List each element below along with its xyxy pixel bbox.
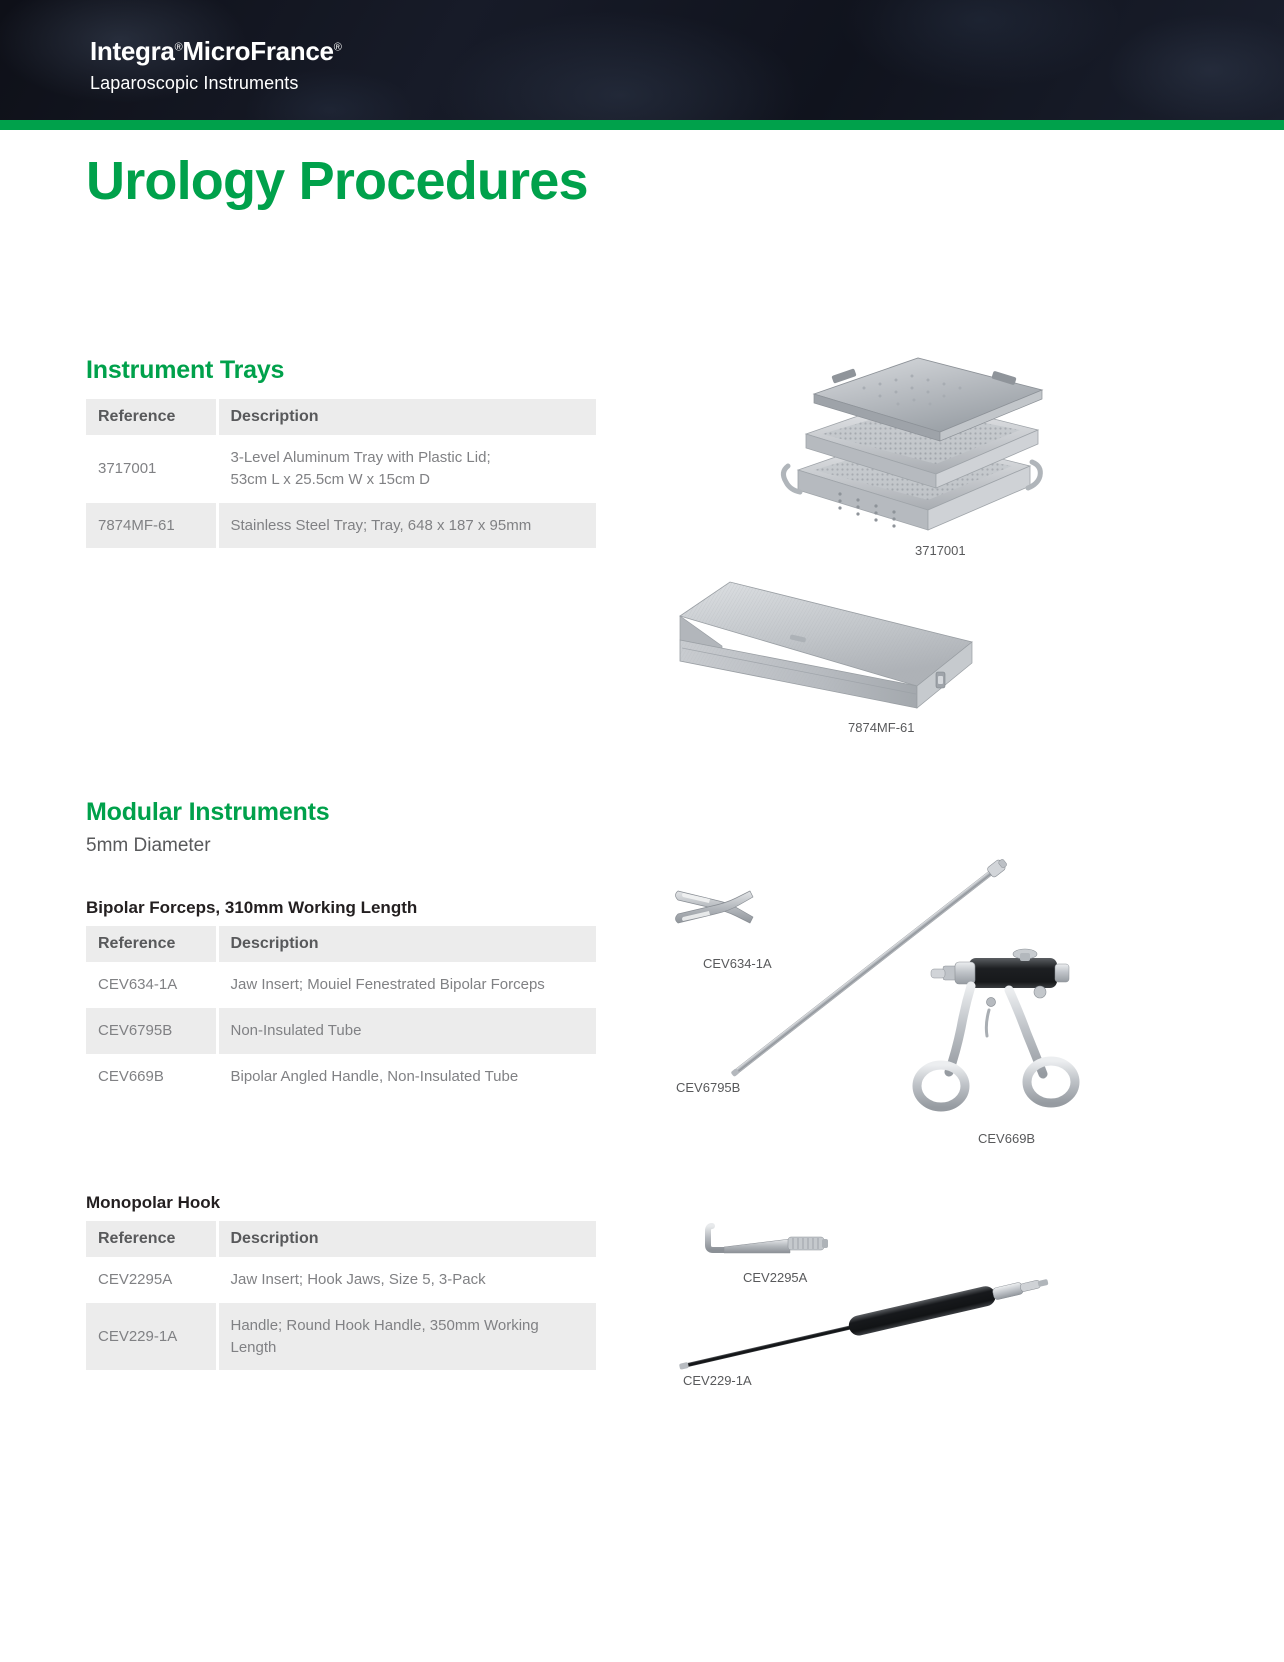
cell-description: 3-Level Aluminum Tray with Plastic Lid; … [217,435,596,503]
figure-caption-cev669b: CEV669B [978,1131,1035,1146]
description-line-2: 53cm L x 25.5cm W x 15cm D [231,471,431,488]
figure-tray-3717001 [780,362,1080,542]
cell-reference: CEV229-1A [86,1303,217,1371]
table-header-row: Reference Description [86,399,596,435]
bipolar-forceps-table: Reference Description CEV634-1A Jaw Inse… [86,926,596,1099]
table-row: 3717001 3-Level Aluminum Tray with Plast… [86,435,596,503]
figure-handle-cev669b [905,940,1100,1140]
figure-hook-handle-cev229-1a [660,1262,1140,1372]
green-accent-rule [0,120,1284,130]
column-header-description: Description [217,926,596,962]
cell-reference: CEV2295A [86,1257,217,1303]
table-row: CEV669B Bipolar Angled Handle, Non-Insul… [86,1054,596,1100]
table-row: 7874MF-61 Stainless Steel Tray; Tray, 64… [86,503,596,549]
table-title-bipolar-forceps: Bipolar Forceps, 310mm Working Length [86,898,596,918]
cell-description: Non-Insulated Tube [217,1008,596,1054]
cell-reference: 3717001 [86,435,217,503]
cell-reference: 7874MF-61 [86,503,217,549]
cell-description: Handle; Round Hook Handle, 350mm Working… [217,1303,596,1371]
figure-jaw-insert-cev634-1a [672,875,792,945]
section-heading-instrument-trays: Instrument Trays [86,356,596,385]
instrument-trays-section: Instrument Trays Reference Description 3… [86,356,596,548]
figure-caption-cev6795b: CEV6795B [676,1080,740,1095]
table-header-row: Reference Description [86,1221,596,1257]
table-header-row: Reference Description [86,926,596,962]
figure-caption-cev634-1a: CEV634-1A [703,956,772,971]
monopolar-hook-table: Reference Description CEV2295A Jaw Inser… [86,1221,596,1370]
cell-description: Bipolar Angled Handle, Non-Insulated Tub… [217,1054,596,1100]
page-header: Integra®MicroFrance® Laparoscopic Instru… [0,0,1284,120]
column-header-description: Description [217,1221,596,1257]
brand-logo: Integra®MicroFrance® Laparoscopic Instru… [90,38,342,92]
figure-tray-7874mf-61 [672,560,982,710]
section-subheading-diameter: 5mm Diameter [86,835,329,857]
figure-caption-3717001: 3717001 [915,543,966,558]
figure-caption-7874mf-61: 7874MF-61 [848,720,914,735]
column-header-reference: Reference [86,399,217,435]
registered-mark-icon-2: ® [334,41,342,53]
brand-name-integra: Integra [90,36,175,66]
instrument-trays-table: Reference Description 3717001 3-Level Al… [86,399,596,548]
column-header-description: Description [217,399,596,435]
monopolar-hook-group: Monopolar Hook Reference Description CEV… [86,1193,596,1370]
modular-instruments-section: Modular Instruments 5mm Diameter [86,798,329,857]
cell-reference: CEV6795B [86,1008,217,1054]
brand-name-microfrance: MicroFrance [182,36,333,66]
table-row: CEV229-1A Handle; Round Hook Handle, 350… [86,1303,596,1371]
column-header-reference: Reference [86,1221,217,1257]
section-heading-modular-instruments: Modular Instruments [86,798,329,827]
table-row: CEV634-1A Jaw Insert; Mouiel Fenestrated… [86,962,596,1008]
cell-description: Stainless Steel Tray; Tray, 648 x 187 x … [217,503,596,549]
table-row: CEV6795B Non-Insulated Tube [86,1008,596,1054]
column-header-reference: Reference [86,926,217,962]
description-line-1: 3-Level Aluminum Tray with Plastic Lid; [231,449,491,466]
cell-reference: CEV669B [86,1054,217,1100]
cell-reference: CEV634-1A [86,962,217,1008]
brand-title: Integra®MicroFrance® [90,38,342,64]
figure-caption-cev229-1a: CEV229-1A [683,1373,752,1388]
page-title: Urology Procedures [86,152,588,211]
brand-subtitle: Laparoscopic Instruments [90,74,342,92]
table-title-monopolar-hook: Monopolar Hook [86,1193,596,1213]
bipolar-forceps-group: Bipolar Forceps, 310mm Working Length Re… [86,898,596,1099]
cell-description: Jaw Insert; Hook Jaws, Size 5, 3-Pack [217,1257,596,1303]
table-row: CEV2295A Jaw Insert; Hook Jaws, Size 5, … [86,1257,596,1303]
cell-description: Jaw Insert; Mouiel Fenestrated Bipolar F… [217,962,596,1008]
